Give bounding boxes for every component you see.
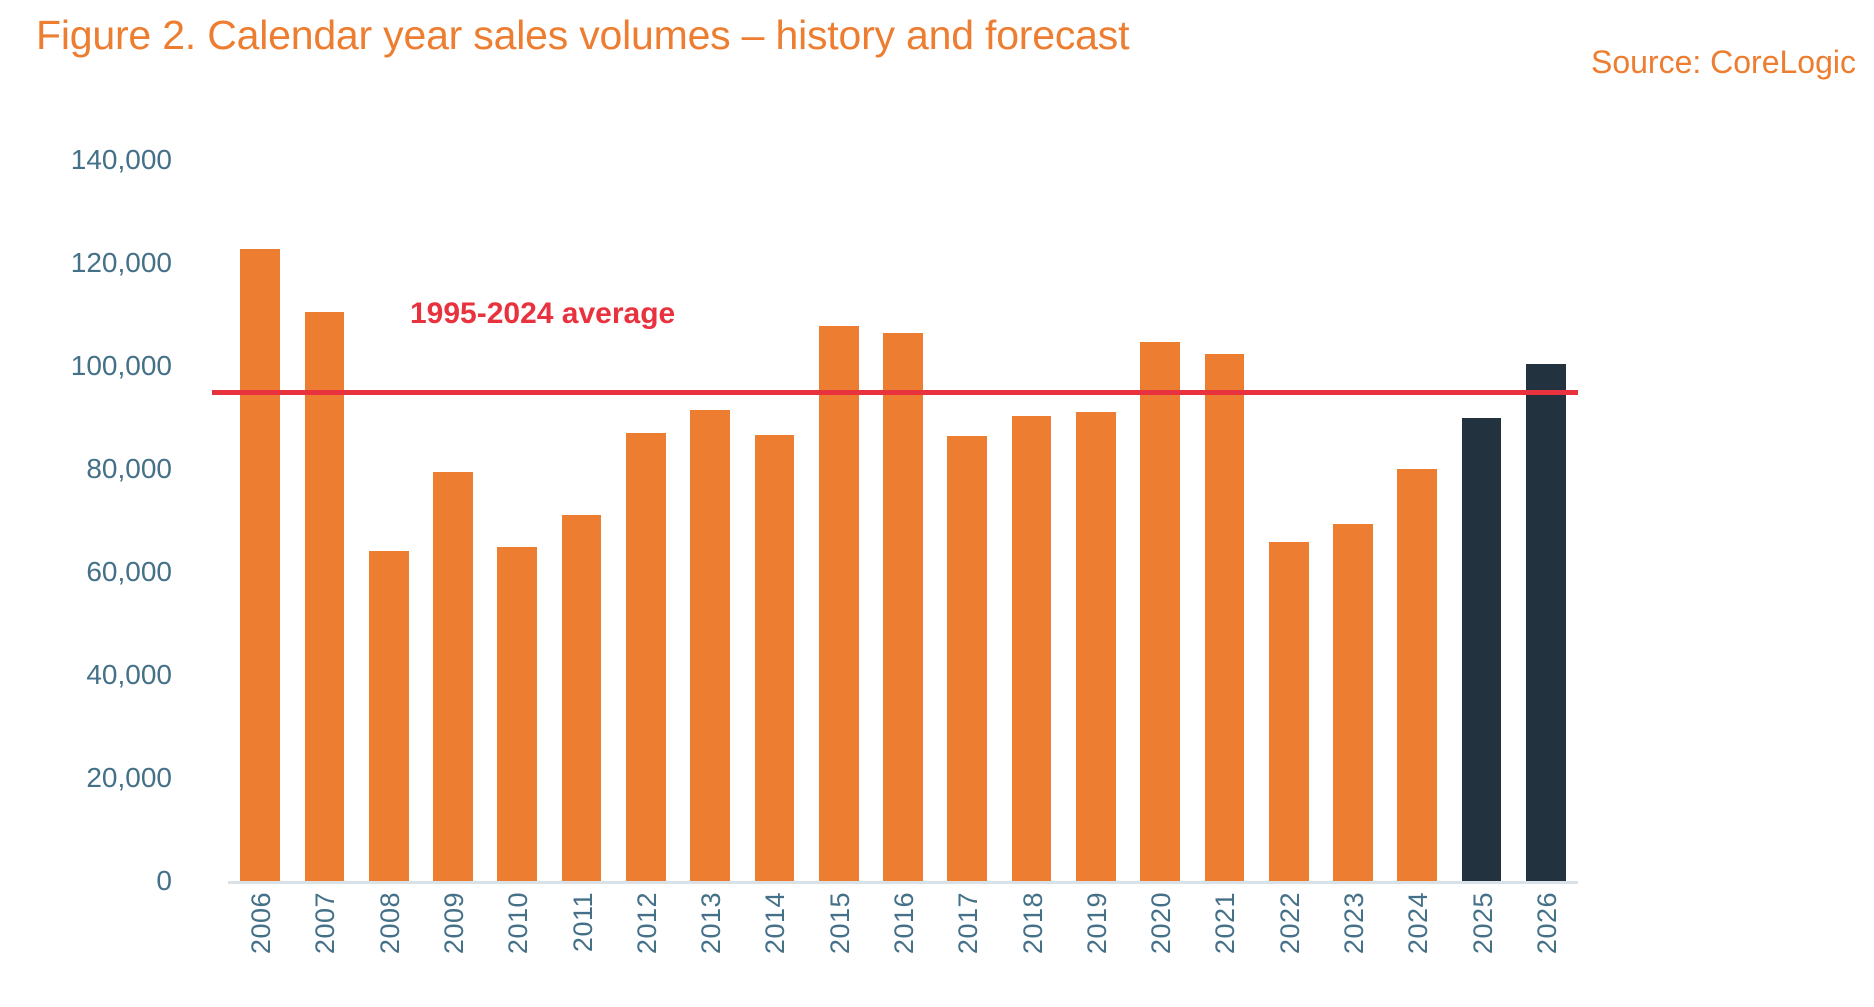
bar-2013[interactable] <box>690 410 730 881</box>
bar-slot <box>819 160 859 881</box>
bar-slot <box>1076 160 1116 881</box>
bar-2023[interactable] <box>1333 524 1373 881</box>
x-axis-tick-label: 2024 <box>1403 892 1434 954</box>
x-axis-tick-label: 2016 <box>889 892 920 954</box>
y-axis-tick-label: 0 <box>16 865 196 897</box>
bar-slot <box>562 160 602 881</box>
bar-slot <box>1462 160 1502 881</box>
bar-slot <box>369 160 409 881</box>
bar-slot <box>883 160 923 881</box>
x-axis-tick-label: 2013 <box>696 892 727 954</box>
x-axis-tick-label: 2009 <box>439 892 470 954</box>
bar-2012[interactable] <box>626 433 666 881</box>
bar-slot <box>1333 160 1373 881</box>
bar-2025[interactable] <box>1462 418 1502 882</box>
bar-slot <box>1012 160 1052 881</box>
bar-2011[interactable] <box>562 515 602 881</box>
bar-slot <box>1526 160 1566 881</box>
bar-2008[interactable] <box>369 551 409 881</box>
y-axis-tick-label: 60,000 <box>16 556 196 588</box>
x-axis-tick-label: 2007 <box>310 892 341 954</box>
x-axis-tick-label: 2008 <box>375 892 406 954</box>
x-axis-tick-label: 2023 <box>1339 892 1370 954</box>
bar-slot <box>690 160 730 881</box>
x-axis-tick-label: 2018 <box>1018 892 1049 954</box>
y-axis-tick-label: 100,000 <box>16 350 196 382</box>
bar-slot <box>1397 160 1437 881</box>
bar-2016[interactable] <box>883 333 923 881</box>
bar-series-container <box>228 160 1578 881</box>
x-axis-tick-label: 2010 <box>503 892 534 954</box>
bar-slot <box>497 160 537 881</box>
y-axis-tick-label: 20,000 <box>16 762 196 794</box>
bar-slot <box>305 160 345 881</box>
bar-2018[interactable] <box>1012 416 1052 881</box>
x-axis-tick-label: 2021 <box>1210 892 1241 954</box>
bar-2010[interactable] <box>497 547 537 881</box>
y-axis-tick-label: 40,000 <box>16 659 196 691</box>
bar-2022[interactable] <box>1269 542 1309 881</box>
x-axis-tick-label: 2020 <box>1146 892 1177 954</box>
bar-2017[interactable] <box>947 436 987 881</box>
x-axis-tick-label: 2015 <box>825 892 856 954</box>
bar-slot <box>947 160 987 881</box>
bar-slot <box>626 160 666 881</box>
bar-2014[interactable] <box>755 435 795 882</box>
x-axis-tick-label: 2026 <box>1532 892 1563 954</box>
bar-slot <box>433 160 473 881</box>
chart-plot-area: 020,00040,00060,00080,000100,000120,0001… <box>0 0 1874 1007</box>
average-reference-label: 1995-2024 average <box>410 297 675 331</box>
x-axis-tick-label: 2017 <box>953 892 984 954</box>
bar-2015[interactable] <box>819 326 859 881</box>
y-axis-tick-label: 140,000 <box>16 144 196 176</box>
bar-2009[interactable] <box>433 472 473 881</box>
x-axis-tick-label: 2012 <box>632 892 663 954</box>
bar-slot <box>755 160 795 881</box>
y-axis-tick-label: 80,000 <box>16 453 196 485</box>
y-axis-tick-label: 120,000 <box>16 247 196 279</box>
x-axis-tick-label: 2025 <box>1468 892 1499 954</box>
bar-2007[interactable] <box>305 312 345 881</box>
bar-slot <box>1269 160 1309 881</box>
bar-2006[interactable] <box>240 249 280 881</box>
x-axis-baseline <box>228 881 1578 884</box>
bar-slot <box>1205 160 1245 881</box>
bar-2021[interactable] <box>1205 354 1245 881</box>
bar-slot <box>240 160 280 881</box>
bar-slot <box>1140 160 1180 881</box>
x-axis-tick-label: 2022 <box>1275 892 1306 954</box>
x-axis-tick-label: 2006 <box>246 892 277 954</box>
x-axis-tick-label: 2014 <box>760 892 791 954</box>
average-reference-line <box>212 390 1578 395</box>
bar-2024[interactable] <box>1397 469 1437 882</box>
x-axis-tick-label: 2019 <box>1082 892 1113 954</box>
bar-2019[interactable] <box>1076 412 1116 881</box>
bar-2020[interactable] <box>1140 342 1180 881</box>
bar-2026[interactable] <box>1526 364 1566 881</box>
x-axis-tick-label: 2011 <box>568 892 599 952</box>
